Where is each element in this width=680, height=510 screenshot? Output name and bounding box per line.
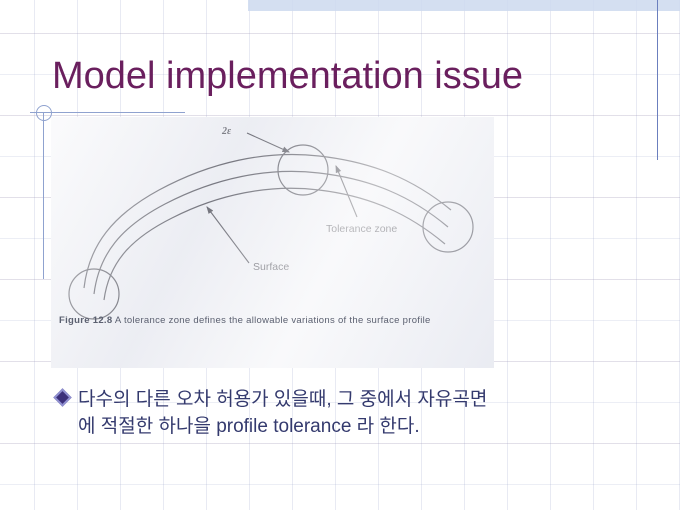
- crosshair-vertical-line: [43, 112, 44, 279]
- bullet-text-container: 다수의 다른 오차 허용가 있을때, 그 중에서 자유곡면 에 적절한 하나을 …: [78, 386, 656, 440]
- crosshair-horizontal-line: [30, 112, 185, 113]
- figure-number: Figure 12.8: [59, 315, 112, 326]
- figure-caption-text: A tolerance zone defines the allowable v…: [115, 315, 431, 326]
- tolerance-zone-diagram: 2ε Tolerance zone Surface: [51, 117, 494, 368]
- label-tolerance-zone: Tolerance zone: [326, 223, 397, 235]
- label-surface: Surface: [253, 261, 289, 273]
- figure-caption: Figure 12.8 A tolerance zone defines the…: [59, 315, 487, 327]
- page-title: Model implementation issue: [52, 55, 523, 98]
- bullet-line-2: 에 적절한 하나을 profile tolerance 라 한다.: [78, 413, 656, 440]
- figure-image-panel: 2ε Tolerance zone Surface Figure 12.8 A …: [51, 117, 494, 368]
- bullet-line-1: 다수의 다른 오차 허용가 있을때, 그 중에서 자유곡면: [78, 389, 487, 410]
- crosshair-circle-icon: [36, 105, 52, 121]
- top-accent-band: [248, 0, 680, 11]
- slide-canvas: Model implementation issue: [0, 0, 680, 510]
- right-accent-rule: [657, 0, 658, 160]
- bullet-paragraph: 다수의 다른 오차 허용가 있을때, 그 중에서 자유곡면 에 적절한 하나을 …: [56, 386, 656, 440]
- diamond-bullet-icon: [53, 388, 71, 406]
- label-2epsilon: 2ε: [221, 126, 232, 137]
